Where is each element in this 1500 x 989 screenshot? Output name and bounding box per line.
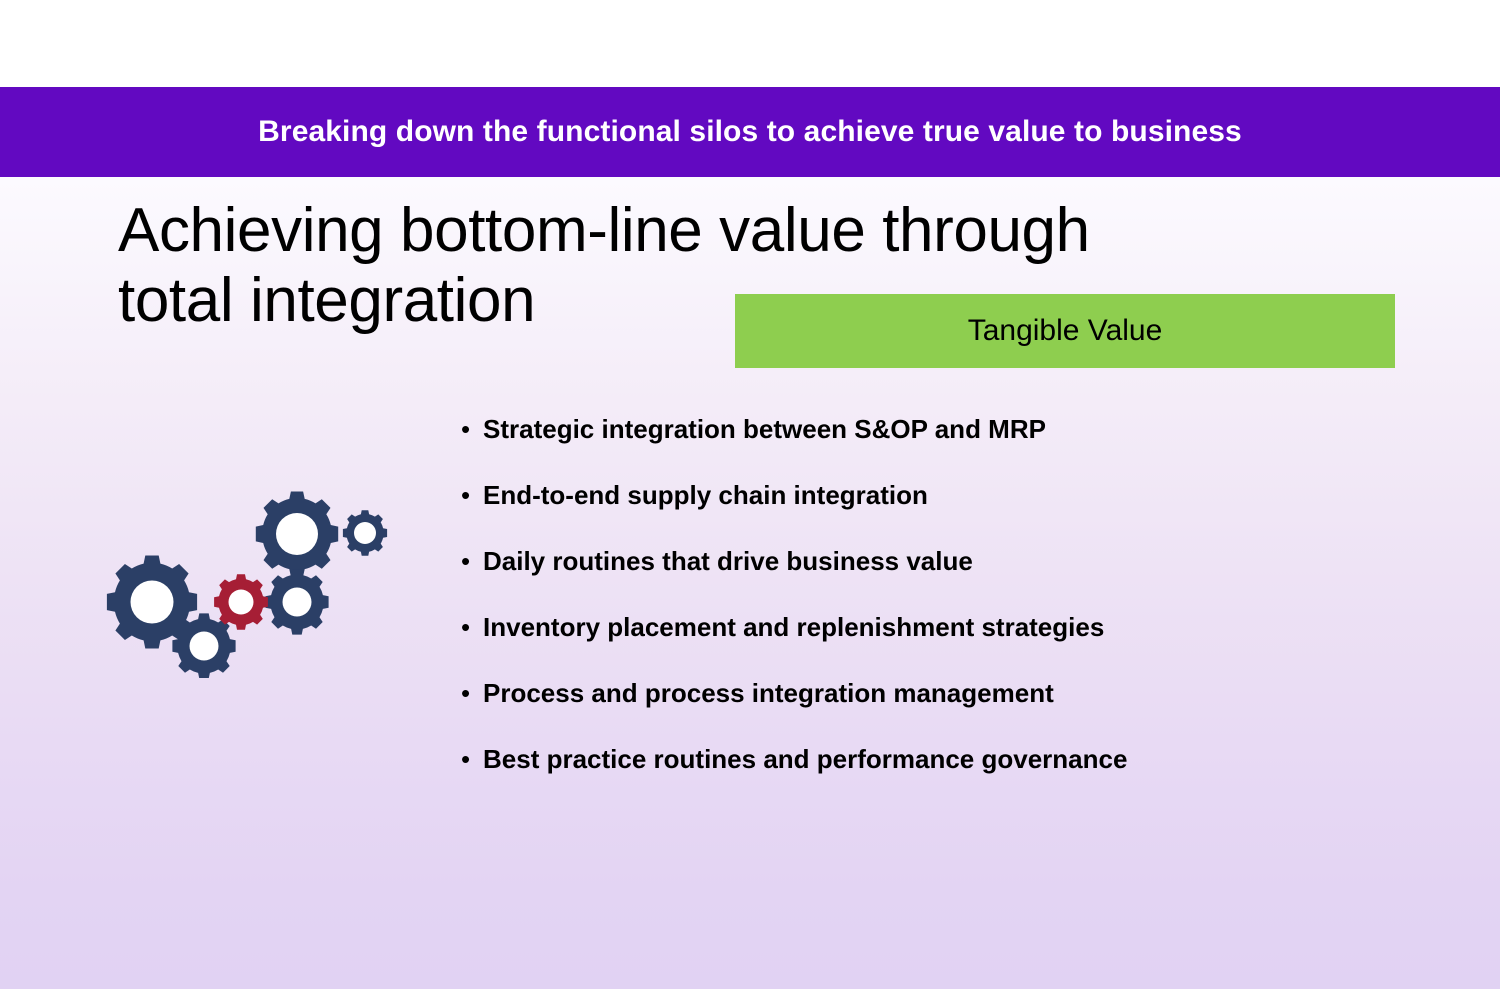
bullet-marker-icon: • <box>455 676 483 710</box>
list-item-label: Strategic integration between S&OP and M… <box>483 412 1046 446</box>
list-item: • Process and process integration manage… <box>455 676 1435 742</box>
gears-svg <box>95 482 405 678</box>
list-item: • Daily routines that drive business val… <box>455 544 1435 610</box>
bullet-marker-icon: • <box>455 742 483 776</box>
list-item-label: Process and process integration manageme… <box>483 676 1054 710</box>
list-item: • Strategic integration between S&OP and… <box>455 412 1435 478</box>
gear-accent-red-center <box>214 574 268 629</box>
tangible-value-callout: Tangible Value <box>735 294 1395 368</box>
gears-cluster-icon <box>95 482 405 678</box>
bullet-marker-icon: • <box>455 544 483 578</box>
list-item: • Inventory placement and replenishment … <box>455 610 1435 676</box>
list-item: • End-to-end supply chain integration <box>455 478 1435 544</box>
header-banner: Breaking down the functional silos to ac… <box>0 87 1500 177</box>
value-bullet-list: • Strategic integration between S&OP and… <box>455 412 1435 808</box>
bullet-marker-icon: • <box>455 610 483 644</box>
bullet-marker-icon: • <box>455 412 483 446</box>
page-title-line-1: Achieving bottom-line value through <box>118 196 1318 266</box>
list-item: • Best practice routines and performance… <box>455 742 1435 808</box>
list-item-label: Daily routines that drive business value <box>483 544 973 578</box>
list-item-label: Inventory placement and replenishment st… <box>483 610 1104 644</box>
gear-medium-right <box>265 569 328 634</box>
bullet-marker-icon: • <box>455 478 483 512</box>
tangible-value-callout-label: Tangible Value <box>968 314 1163 348</box>
slide-canvas: Breaking down the functional silos to ac… <box>0 0 1500 989</box>
gear-small-right-top <box>343 510 387 556</box>
gear-large-top <box>256 492 338 577</box>
top-white-strip <box>0 0 1500 87</box>
list-item-label: End-to-end supply chain integration <box>483 478 928 512</box>
header-banner-text: Breaking down the functional silos to ac… <box>258 115 1242 149</box>
list-item-label: Best practice routines and performance g… <box>483 742 1127 776</box>
